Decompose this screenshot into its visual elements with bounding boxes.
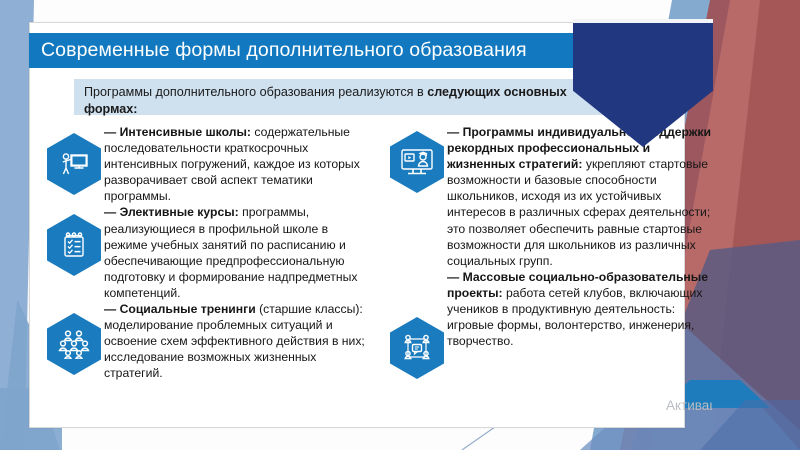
activation-watermark-clip: Активаци <box>660 392 712 418</box>
list-item-body: программы, реализующиеся в профильной шк… <box>104 205 357 299</box>
slide-stage: Современные формы дополнительного образо… <box>0 0 800 450</box>
list-item-heading: — Элективные курсы: <box>104 205 239 219</box>
activation-watermark: Активаци <box>666 398 712 413</box>
list-item: — Программы индивидуальной поддержки рек… <box>447 124 715 269</box>
list-item: — Элективные курсы: программы, реализующ… <box>104 204 372 301</box>
pennant-top-cap <box>573 19 713 23</box>
left-text-column: — Интенсивные школы: содержательные посл… <box>104 124 372 382</box>
list-item: — Социальные тренинги (старшие классы): … <box>104 301 372 381</box>
intro-text: Программы дополнительного образования ре… <box>84 84 600 117</box>
list-item: — Массовые социально-образовательные про… <box>447 269 715 349</box>
list-item: — Интенсивные школы: содержательные посл… <box>104 124 372 204</box>
intro-text-prefix: Программы дополнительного образования ре… <box>84 85 427 99</box>
list-item-body: укрепляют стартовые возможности и базовы… <box>447 157 710 268</box>
right-text-column: — Программы индивидуальной поддержки рек… <box>447 124 715 349</box>
intro-callout-box: Программы дополнительного образования ре… <box>74 79 610 115</box>
list-item-heading: — Интенсивные школы: <box>104 125 251 139</box>
slide-title-banner: Современные формы дополнительного образо… <box>29 33 654 68</box>
list-item-heading: — Социальные тренинги <box>104 302 256 316</box>
page-title: Современные формы дополнительного образо… <box>29 39 527 62</box>
